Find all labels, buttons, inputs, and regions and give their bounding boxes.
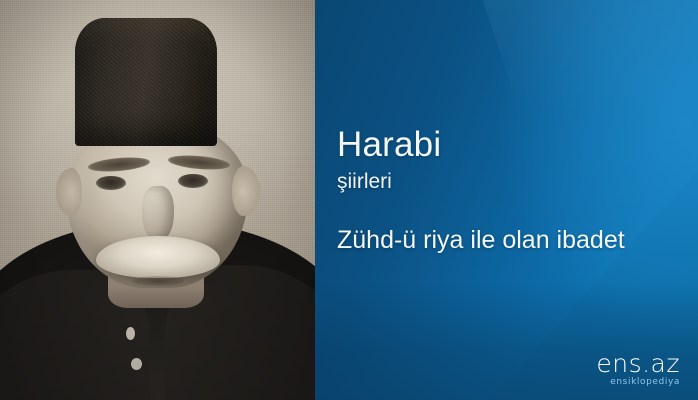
info-panel: Harabi şiirleri Zühd-ü riya ile olan iba…	[315, 0, 698, 400]
author-kind-label: şiirleri	[337, 168, 667, 196]
site-logo-tagline: ensiklopediya	[580, 377, 680, 388]
site-logo-wordmark: ens.az	[580, 351, 680, 376]
author-name: Harabi	[337, 124, 667, 166]
poem-text-block: Harabi şiirleri Zühd-ü riya ile olan iba…	[337, 124, 667, 257]
poem-share-card: Harabi şiirleri Zühd-ü riya ile olan iba…	[0, 0, 698, 400]
poem-title: Zühd-ü riya ile olan ibadet	[337, 224, 667, 257]
author-portrait	[0, 0, 315, 400]
site-logo[interactable]: ens.az ensiklopediya	[580, 351, 680, 388]
portrait-vignette	[0, 0, 315, 400]
